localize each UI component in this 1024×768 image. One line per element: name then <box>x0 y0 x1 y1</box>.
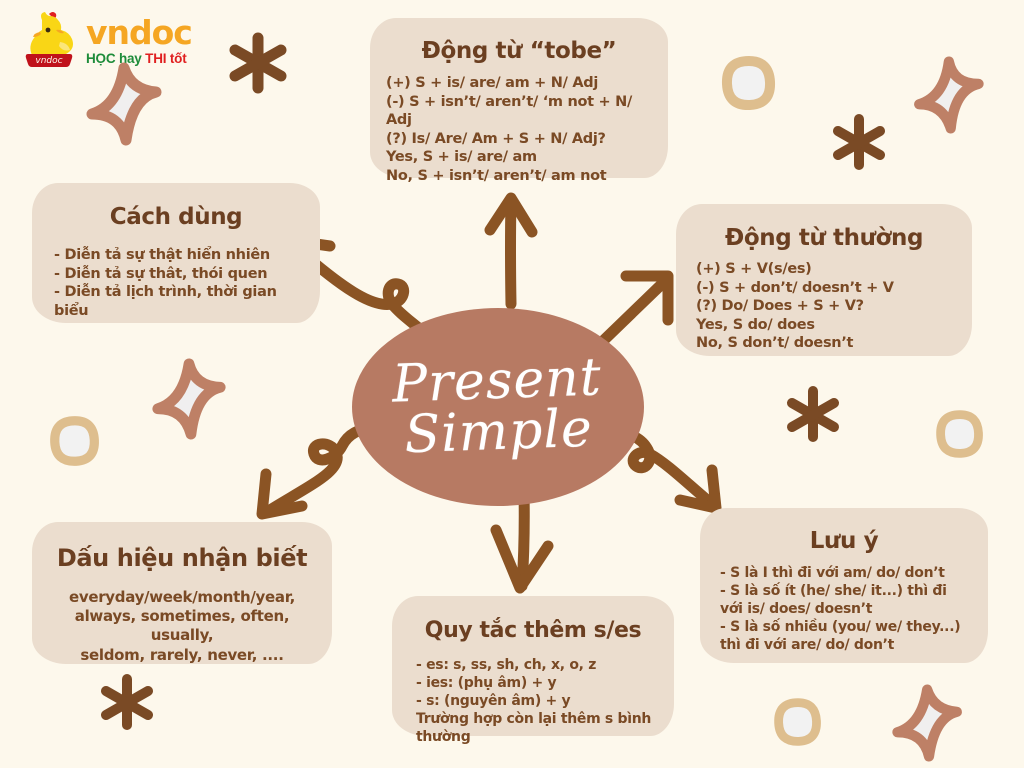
arrow-down-to-rules <box>482 490 562 602</box>
ring-bottom-right-icon <box>776 700 820 744</box>
ring-top-right-icon <box>724 58 774 108</box>
card-to-be-verb-body: (+) S + is/ are/ am + N/ Adj (-) S + isn… <box>386 74 652 185</box>
vndoc-chicken-mascot-icon: vndoc <box>18 8 80 70</box>
sparkle-top-right-icon <box>828 112 890 174</box>
star-outline-bottom-right-icon <box>890 684 968 762</box>
card-usage[interactable]: Cách dùng - Diễn tả sự thật hiển nhiên -… <box>32 183 320 323</box>
card-ordinary-verb-body: (+) S + V(s/es) (-) S + don’t/ doesn’t +… <box>692 260 956 353</box>
central-topic-node[interactable]: Present Simple <box>352 308 644 506</box>
logo-wordmark: vndoc <box>86 16 192 49</box>
card-notes-title: Lưu ý <box>716 528 972 554</box>
card-ordinary-verb-title: Động từ thường <box>692 225 956 251</box>
card-to-be-verb-title: Động từ “tobe” <box>386 38 652 64</box>
card-notes-body: - S là I thì đi với am/ do/ don’t - S là… <box>716 565 972 655</box>
card-notes[interactable]: Lưu ý - S là I thì đi với am/ do/ don’t … <box>700 508 988 663</box>
star-outline-top-right-icon <box>908 56 986 134</box>
card-s-es-rules-title: Quy tắc thêm s/es <box>408 618 658 643</box>
arrow-up-to-tobe <box>470 186 550 308</box>
card-ordinary-verb[interactable]: Động từ thường (+) S + V(s/es) (-) S + d… <box>676 204 972 356</box>
star-outline-top-left-icon <box>84 62 168 146</box>
card-usage-title: Cách dùng <box>48 204 304 230</box>
card-to-be-verb[interactable]: Động từ “tobe” (+) S + is/ are/ am + N/ … <box>370 18 668 178</box>
central-topic-label: Present Simple <box>392 352 605 461</box>
svg-text:vndoc: vndoc <box>35 56 62 66</box>
sparkle-mid-right-icon <box>782 384 844 446</box>
vndoc-logo[interactable]: vndoc vndoc HỌC hay THI tốt <box>18 8 192 70</box>
card-s-es-rules-body: - es: s, ss, sh, ch, x, o, z - ies: (phụ… <box>408 657 658 747</box>
card-signal-words-title: Dấu hiệu nhận biết <box>48 544 316 572</box>
card-s-es-rules[interactable]: Quy tắc thêm s/es - es: s, ss, sh, ch, x… <box>392 596 674 736</box>
sparkle-bottom-left-icon <box>96 672 158 734</box>
card-usage-body: - Diễn tả sự thật hiển nhiên - Diễn tả s… <box>48 246 304 320</box>
card-signal-words-body: everyday/week/month/year, always, someti… <box>48 588 316 665</box>
card-signal-words[interactable]: Dấu hiệu nhận biết everyday/week/month/y… <box>32 522 332 664</box>
star-outline-mid-left-icon <box>148 358 230 440</box>
ring-mid-left-icon <box>52 418 98 464</box>
ring-mid-right-icon <box>938 412 982 456</box>
sparkle-top-left-icon <box>224 30 292 98</box>
mindmap-canvas: vndoc vndoc HỌC hay THI tốt <box>0 0 1024 768</box>
